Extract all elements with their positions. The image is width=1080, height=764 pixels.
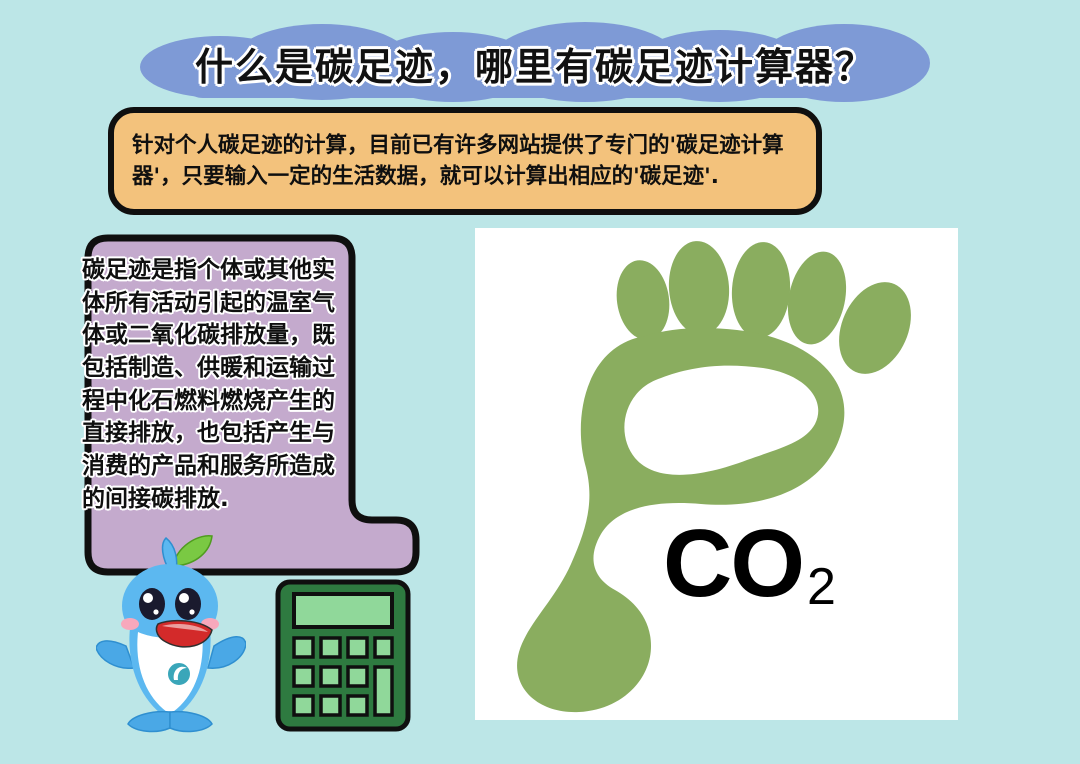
calculator-equals-button <box>375 667 392 715</box>
definition-callout-box: 碳足迹是指个体或其他实体所有活动引起的温室气体或二氧化碳排放量，既包括制造、供暖… <box>66 232 436 578</box>
page-title: 什么是碳足迹，哪里有碳足迹计算器？ <box>140 22 930 104</box>
co2-main-text: CO <box>663 510 803 617</box>
carbon-footprint-icon <box>475 228 958 720</box>
calculator-screen <box>294 594 392 627</box>
intro-callout-box: 针对个人碳足迹的计算，目前已有许多网站提供了专门的'碳足迹计算器'，只要输入一定… <box>108 107 822 215</box>
intro-callout-text: 针对个人碳足迹的计算，目前已有许多网站提供了专门的'碳足迹计算器'，只要输入一定… <box>114 130 816 192</box>
footprint-image-panel: CO2 <box>475 228 958 720</box>
co2-subscript-text: 2 <box>807 558 836 616</box>
dolphin-mascot <box>96 528 246 736</box>
title-cloud-banner: 什么是碳足迹，哪里有碳足迹计算器？ <box>140 22 930 104</box>
definition-callout-text: 碳足迹是指个体或其他实体所有活动引起的温室气体或二氧化碳排放量，既包括制造、供暖… <box>82 254 354 515</box>
co2-label: CO2 <box>663 516 836 613</box>
calculator-icon <box>274 578 412 733</box>
poster-canvas: 什么是碳足迹，哪里有碳足迹计算器？ 针对个人碳足迹的计算，目前已有许多网站提供了… <box>0 0 1080 764</box>
calculator-illustration <box>274 578 412 733</box>
dolphin-mascot-icon <box>96 528 246 736</box>
